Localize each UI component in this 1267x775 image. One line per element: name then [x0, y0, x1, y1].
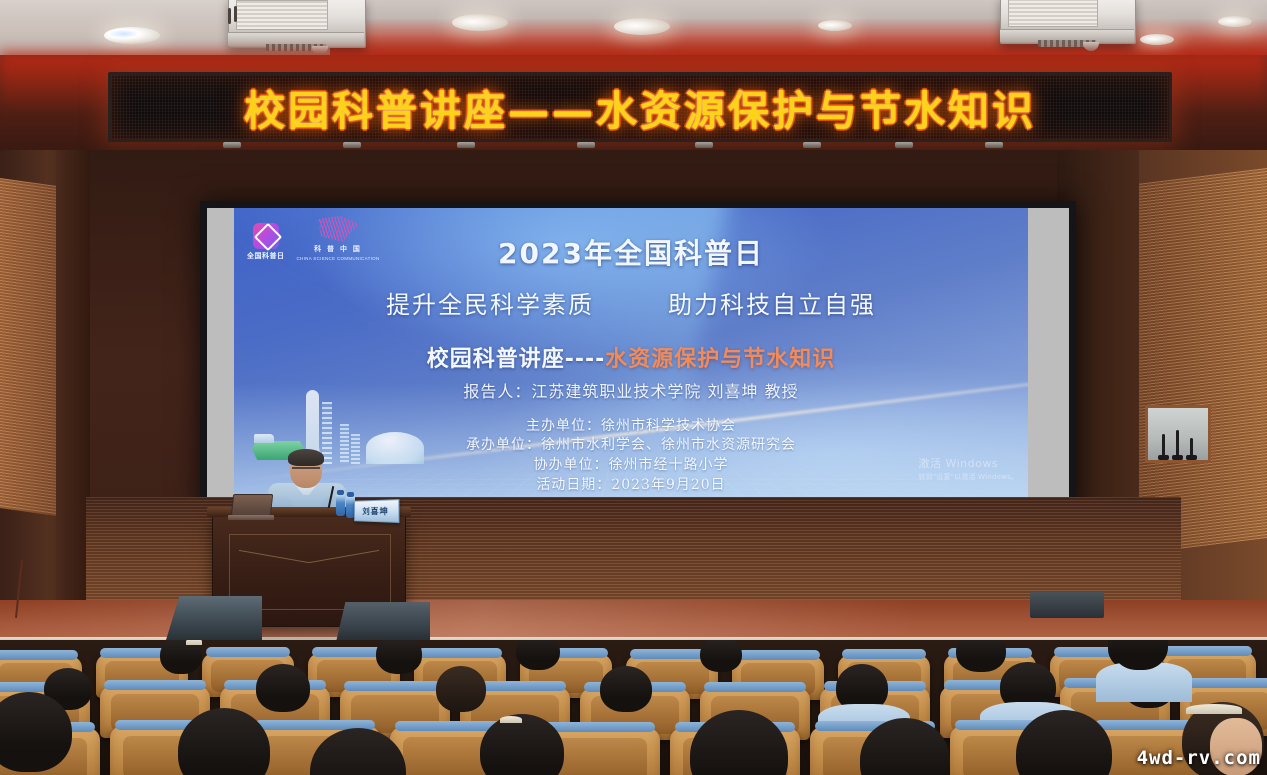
audience-head — [436, 666, 486, 712]
led-banner: 校园科普讲座——水资源保护与节水知识 — [108, 72, 1172, 142]
spot-yoke — [577, 142, 595, 148]
audience-head — [516, 640, 560, 670]
audience-head — [700, 640, 742, 672]
auditorium-photo: 校园科普讲座——水资源保护与节水知识 — [0, 0, 1267, 775]
downlight — [1218, 16, 1252, 27]
spot-yoke — [223, 142, 241, 148]
bottle-cap — [337, 490, 344, 495]
downlight — [1140, 34, 1174, 45]
microphone-icon — [1190, 438, 1193, 456]
ac-grill-icon — [236, 0, 328, 30]
organizer-line: 协办单位：徐州市经十路小学 — [234, 456, 1028, 476]
microphone-icon — [1162, 434, 1165, 456]
spot-yoke — [457, 142, 475, 148]
left-wall-ribbed-panel — [0, 178, 58, 516]
spot-yoke — [985, 142, 1003, 148]
speaker-nameplate: 刘喜坤 — [354, 499, 399, 523]
laptop-base — [228, 515, 274, 520]
audience-head — [600, 666, 652, 712]
subtitle-prefix: 校园科普讲座---- — [427, 347, 606, 372]
organizer-line: 主办单位：徐州市科学技术协会 — [234, 417, 1028, 437]
ac-pipe — [228, 8, 231, 24]
windows-activation-watermark: 激活 Windows 转到"设置"以激活 Windows。 — [918, 455, 1018, 482]
ac-grill-icon — [1008, 0, 1098, 27]
headband — [1186, 704, 1242, 714]
audience-seating — [0, 640, 1267, 775]
hair-clip — [186, 640, 202, 645]
spot-yoke — [895, 142, 913, 148]
downlight — [452, 14, 508, 31]
slogan-left: 提升全民科学素质 — [386, 285, 594, 320]
organizer-line: 承办单位：徐州市水利学会、徐州市水资源研究会 — [234, 436, 1028, 456]
ac-pipe — [234, 6, 237, 22]
audience-head — [956, 640, 1006, 672]
audience-head — [376, 640, 422, 674]
spot-yoke — [695, 142, 713, 148]
downlight — [818, 20, 852, 31]
slide-organizers: 主办单位：徐州市科学技术协会 承办单位：徐州市水利学会、徐州市水资源研究会 协办… — [234, 417, 1028, 497]
hair-clip — [500, 716, 522, 723]
microphone-icon — [1176, 430, 1179, 456]
slide-title: 2023年全国科普日 — [234, 232, 1028, 272]
audience-head — [160, 640, 202, 674]
stage-monitor-speaker — [336, 602, 430, 642]
control-room-window — [1145, 405, 1211, 463]
laptop — [228, 494, 272, 520]
led-banner-text: 校园科普讲座——水资源保护与节水知识 — [111, 75, 1169, 139]
glasses-icon — [292, 467, 320, 475]
speaker-hair — [288, 449, 324, 466]
podium-chevron-trim — [239, 556, 379, 578]
downlight — [104, 27, 160, 44]
ceiling-ac-unit-right — [1000, 0, 1134, 42]
slide-slogans: 提升全民科学素质 助力科技自立自强 — [234, 285, 1028, 320]
slide-subtitle: 校园科普讲座----水资源保护与节水知识 — [234, 341, 1028, 373]
nameplate-text: 刘喜坤 — [362, 505, 388, 517]
site-watermark: 4wd-rv.com — [1137, 747, 1261, 769]
windows-activation-title: 激活 Windows — [918, 455, 1018, 471]
spot-yoke — [803, 142, 821, 148]
floor-equipment-box — [1030, 592, 1104, 618]
spot-yoke — [343, 142, 361, 148]
laptop-lid — [231, 494, 273, 516]
windows-activation-subtitle: 转到"设置"以激活 Windows。 — [918, 472, 1018, 482]
right-wall-ribbed-panel — [1139, 168, 1267, 554]
audience-head — [256, 664, 310, 712]
water-bottle — [336, 494, 345, 516]
downlight — [614, 18, 670, 35]
subtitle-highlight: 水资源保护与节水知识 — [605, 347, 835, 372]
stage-monitor-speaker — [166, 596, 262, 640]
presentation-slide: 全国科普日 科 普 中 国 CHINA SCIENCE COMMUNICATIO… — [234, 208, 1028, 510]
ceiling-ac-unit-left — [228, 0, 364, 46]
left-wall-column — [56, 150, 90, 620]
slogan-right: 助力科技自立自强 — [668, 285, 876, 320]
bottle-cap — [347, 492, 354, 497]
